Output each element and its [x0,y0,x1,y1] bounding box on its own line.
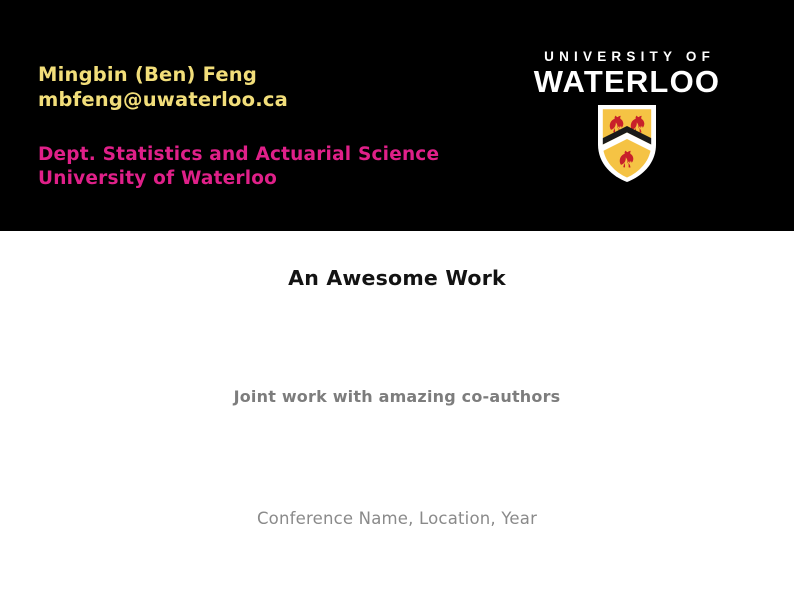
logo-university-text: UNIVERSITY OF [527,50,727,64]
department-name: Dept. Statistics and Actuarial Science [38,143,439,167]
waterloo-shield-icon [596,104,658,182]
shield-container [527,104,727,182]
author-email: mbfeng@uwaterloo.ca [38,87,439,112]
author-name: Mingbin (Ben) Feng [38,62,439,87]
author-affiliation-block: Mingbin (Ben) Feng mbfeng@uwaterloo.ca D… [38,62,439,191]
presentation-title-slide: Mingbin (Ben) Feng mbfeng@uwaterloo.ca D… [0,0,794,596]
university-of-waterloo-logo: UNIVERSITY OF WATERLOO [527,50,727,182]
title-slide-banner: Mingbin (Ben) Feng mbfeng@uwaterloo.ca D… [0,0,794,231]
presentation-subtitle: Joint work with amazing co-authors [0,387,794,406]
presentation-title: An Awesome Work [0,266,794,290]
logo-waterloo-text: WATERLOO [527,66,727,99]
conference-info: Conference Name, Location, Year [0,509,794,528]
affiliation-block: Dept. Statistics and Actuarial Science U… [38,143,439,191]
institution-name: University of Waterloo [38,167,439,191]
